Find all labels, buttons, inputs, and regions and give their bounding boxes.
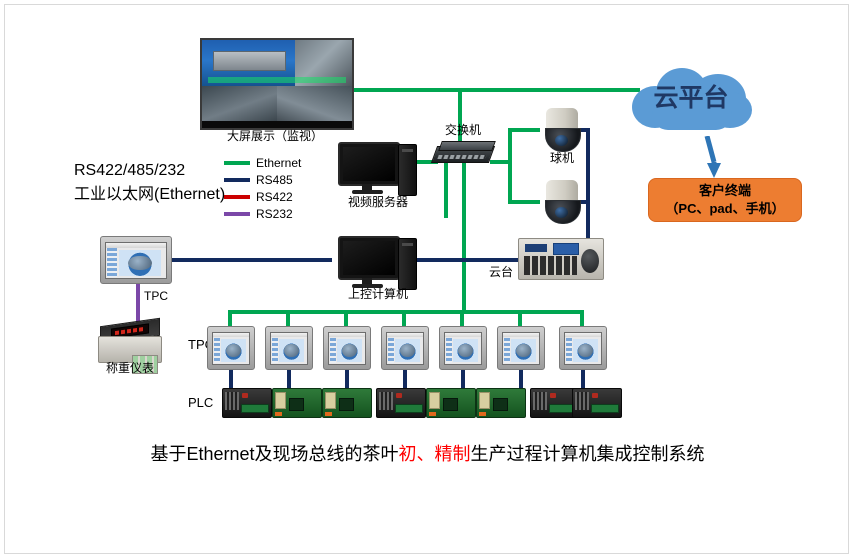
host-computer-label: 上控计算机	[330, 288, 426, 302]
legend-label-rs485: RS485	[256, 173, 293, 187]
legend-swatch-rs422	[224, 195, 250, 199]
link-rs232-hmi-scale	[136, 282, 140, 324]
video-wall-bezel	[202, 121, 352, 128]
legend-label-ethernet: Ethernet	[256, 156, 301, 170]
video-wall-status-bar	[208, 77, 346, 83]
hmi-panel-main	[100, 236, 172, 284]
link-rs485-plc-drop-4	[403, 370, 407, 388]
weighing-instrument-label: 称重仪表	[84, 362, 176, 376]
link-rs485-plc-drop-6	[519, 370, 523, 388]
tpc-screen	[564, 332, 602, 365]
host-computer-tower	[398, 238, 417, 290]
plc-status-led	[429, 412, 436, 416]
link-rs485-plc-drop-2	[287, 370, 291, 388]
caption-part-2: 生产过程计算机集成控制系统	[471, 444, 705, 464]
tpc-graphic	[573, 339, 598, 362]
plc-unit-5	[426, 388, 476, 418]
tpc-graphic	[395, 339, 420, 362]
legend-item-rs232: RS232	[224, 207, 293, 221]
link-ethernet-tpc-drop-2	[286, 310, 290, 326]
plc-status-led	[242, 393, 248, 398]
plc-unit-3	[322, 388, 372, 418]
ptz-screen	[553, 243, 579, 255]
ptz-keypad	[524, 256, 577, 275]
link-ethernet-tpc-drop-1	[228, 310, 232, 326]
tpc-sidebar	[330, 338, 336, 363]
tpc-graphic	[279, 339, 304, 362]
hmi-main-label: TPC	[144, 290, 168, 304]
diagram-caption: 基于Ethernet及现场总线的茶叶初、精制生产过程计算机集成控制系统	[0, 440, 855, 466]
link-rs485-plc-drop-1	[229, 370, 233, 388]
diagram-canvas: 大屏展示（监视） 视频服务器 交换机 球机 上控计算机	[0, 0, 855, 560]
tpc-panel-2	[265, 326, 313, 370]
plc-status-led	[275, 412, 282, 416]
caption-part-1: 基于Ethernet及现场总线的茶叶	[150, 444, 398, 464]
host-computer	[338, 236, 418, 290]
hmi-graphic	[119, 250, 161, 276]
plc-unit-6	[476, 388, 526, 418]
legend-swatch-ethernet	[224, 161, 250, 165]
tpc-screen	[270, 332, 308, 365]
link-ethernet-camera-bus	[508, 128, 512, 204]
link-rs485-hmi-host	[170, 258, 332, 262]
legend-item-ethernet: Ethernet	[224, 156, 301, 170]
tpc-sidebar	[214, 338, 220, 363]
link-rs485-camera-ptz-vertical	[586, 128, 590, 250]
caption-part-highlight: 初、精制	[399, 444, 471, 464]
tpc-graphic	[511, 339, 536, 362]
plc-unit-1	[222, 388, 272, 418]
plc-unit-4	[376, 388, 426, 418]
legend-title-line2: 工业以太网(Ethernet)	[74, 186, 225, 204]
legend-label-rs232: RS232	[256, 207, 293, 221]
weighing-instrument	[98, 322, 160, 362]
tpc-panel-7	[559, 326, 607, 370]
link-ethernet-tpc-drop-6	[518, 310, 522, 326]
plc-status-led	[592, 393, 598, 398]
switch-label: 交换机	[434, 124, 492, 138]
tpc-panel-5	[439, 326, 487, 370]
link-rs485-plc-drop-7	[581, 370, 585, 388]
ptz-indicator-panel	[525, 244, 547, 252]
ptz-control-keyboard	[518, 238, 604, 280]
tpc-sidebar	[388, 338, 394, 363]
link-ethernet-trunk-top	[352, 88, 640, 92]
plc-status-led	[550, 393, 556, 398]
link-rs485-plc-drop-3	[345, 370, 349, 388]
weighing-body	[98, 336, 162, 363]
tpc-screen	[328, 332, 366, 365]
link-ethernet-tpc-drop-7	[580, 310, 584, 326]
network-switch	[434, 140, 492, 164]
ptz-joystick	[581, 249, 599, 273]
tpc-sidebar	[446, 338, 452, 363]
link-ethernet-tpc-bus	[228, 310, 584, 314]
video-server	[338, 142, 418, 196]
client-terminal-box: 客户终端 （PC、pad、手机）	[648, 178, 802, 222]
link-ethernet-camera2	[508, 200, 540, 204]
client-terminal-line2: （PC、pad、手机）	[665, 200, 784, 218]
tpc-panel-1	[207, 326, 255, 370]
switch-top-face	[438, 141, 496, 151]
dome-camera-label: 球机	[532, 152, 592, 166]
camera-lens-icon	[555, 207, 568, 218]
legend-title-line1: RS422/485/232	[74, 162, 185, 180]
link-ethernet-switch-host	[444, 162, 448, 218]
cloud-platform: 云平台	[626, 64, 756, 134]
tpc-panel-3	[323, 326, 371, 370]
tpc-panel-6	[497, 326, 545, 370]
legend-label-rs422: RS422	[256, 190, 293, 204]
video-wall-display	[200, 38, 354, 130]
tpc-graphic	[453, 339, 478, 362]
link-ethernet-switch-fieldbus	[462, 162, 466, 310]
video-server-label: 视频服务器	[330, 196, 426, 210]
plc-status-led	[396, 393, 402, 398]
link-rs485-host-ptz	[410, 258, 520, 262]
plc-status-led	[479, 412, 486, 416]
plc-unit-8	[572, 388, 622, 418]
legend-item-rs485: RS485	[224, 173, 293, 187]
video-server-monitor	[338, 142, 400, 186]
legend-item-rs422: RS422	[224, 190, 293, 204]
tpc-screen	[212, 332, 250, 365]
link-ethernet-tpc-drop-3	[344, 310, 348, 326]
ptz-label: 云台	[484, 266, 518, 280]
hmi-sidebar	[107, 248, 117, 277]
cloud-to-terminal-arrow-icon	[700, 136, 722, 178]
tpc-sidebar	[566, 338, 572, 363]
legend-swatch-rs232	[224, 212, 250, 216]
tpc-sidebar	[504, 338, 510, 363]
link-ethernet-camera1	[508, 128, 540, 132]
tpc-sidebar	[272, 338, 278, 363]
video-server-stand-base	[352, 190, 383, 194]
tpc-screen	[502, 332, 540, 365]
tpc-graphic	[337, 339, 362, 362]
dome-camera-2	[540, 180, 584, 226]
tpc-panel-4	[381, 326, 429, 370]
link-ethernet-tpc-drop-5	[460, 310, 464, 326]
hmi-titlebar	[106, 243, 166, 248]
client-terminal-line1: 客户终端	[699, 182, 751, 200]
switch-ports	[437, 155, 486, 159]
host-computer-monitor	[338, 236, 400, 280]
cloud-platform-label: 云平台	[626, 78, 756, 114]
tpc-screen	[444, 332, 482, 365]
row-label-plc: PLC	[188, 396, 213, 411]
tpc-graphic	[221, 339, 246, 362]
camera-lens-icon	[555, 135, 568, 146]
video-wall-label: 大屏展示（监视）	[200, 130, 350, 144]
dome-camera-1	[540, 108, 584, 154]
tpc-screen	[386, 332, 424, 365]
video-server-tower	[398, 144, 417, 196]
legend-swatch-rs485	[224, 178, 250, 182]
plc-status-led	[325, 412, 332, 416]
link-rs485-plc-drop-5	[461, 370, 465, 388]
hmi-screen	[105, 242, 167, 279]
plc-unit-2	[272, 388, 322, 418]
link-ethernet-tpc-drop-4	[402, 310, 406, 326]
